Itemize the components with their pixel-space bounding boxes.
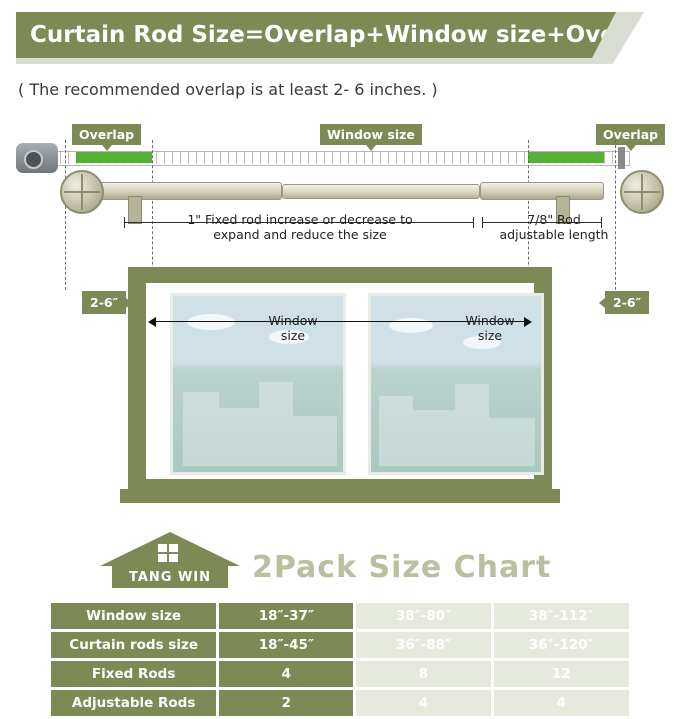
fixed-rod-note: 1" Fixed rod increase or decrease to exp… [150,212,450,242]
callout-overlap-right: 2-6″ [605,291,649,314]
rod-bracket-left-icon [128,196,142,224]
adjustable-rod-note-line1: 7/8" Rod [494,212,614,227]
table-cell: 2 [219,690,353,716]
table-row: Adjustable Rods244 [51,690,629,716]
table-cell: 38″-112″ [494,603,630,629]
guide-line-1 [65,140,66,290]
table-row-header: Curtain rods size [51,632,216,658]
table-row: Curtain rods size18″-45″36″-88″36″-120″ [51,632,629,658]
table-cell: 8 [356,661,490,687]
dimension-cap-adjustable-left [482,217,483,228]
header-subtitle: ( The recommended overlap is at least 2-… [18,80,658,99]
table-cell: 12 [494,661,630,687]
table-cell: 38″-80″ [356,603,490,629]
curtain-rod-right-section [480,182,604,200]
page-title: Curtain Rod Size=Overlap+Window size+Ove… [30,22,667,48]
skyline-shape [219,408,259,466]
table-cell: 36″-120″ [494,632,630,658]
window-size-label-right-line2: size [445,328,535,343]
arrow-right-icon [524,317,532,327]
table-row-header: Window size [51,603,216,629]
curtain-rod-adjustable-section [282,184,480,199]
skyline-shape [489,418,535,466]
size-chart-title: 2Pack Size Chart [252,550,551,585]
adjustable-rod-note: 7/8" Rod adjustable length [494,212,614,242]
curtain-rod-left-section [80,182,282,200]
tape-end-hook-icon [618,147,625,169]
table-row-header: Adjustable Rods [51,690,216,716]
size-chart-table: Window size18″-37″38″-80″38″-112″Curtain… [48,600,632,719]
cloud-icon [187,314,235,330]
rod-finial-right-icon [620,170,664,214]
table-cell: 4 [494,690,630,716]
tape-tick-marks [52,151,628,164]
table-cell: 4 [219,661,353,687]
label-overlap-left: Overlap [72,124,141,145]
skyline-shape [183,392,219,466]
window-size-label-left: Window size [248,313,338,343]
window-size-label-right: Window size [445,313,535,343]
fixed-rod-note-line1: 1" Fixed rod increase or decrease to [150,212,450,227]
rod-finial-left-icon [60,170,104,214]
fixed-rod-note-line2: expand and reduce the size [150,227,450,242]
table-row: Window size18″-37″38″-80″38″-112″ [51,603,629,629]
skyline-shape [293,416,337,466]
skyline-shape [379,396,413,466]
dimension-cap-fixed-right [473,217,474,228]
table-cell: 36″-88″ [356,632,490,658]
label-window-size-top: Window size [320,124,422,145]
table-cell: 4 [356,690,490,716]
skyline-shape [259,382,293,466]
arrow-left-icon [148,317,156,327]
callout-overlap-left: 2-6″ [82,291,126,314]
brand-name: TANG WIN [112,566,228,588]
header-banner: Curtain Rod Size=Overlap+Window size+Ove… [16,12,616,58]
window-width-dimension-line [152,321,528,322]
dimension-cap-fixed-left [124,217,125,228]
adjustable-rod-note-line2: adjustable length [494,227,614,242]
skyline-shape [455,384,489,466]
table-cell: 18″-37″ [219,603,353,629]
window-sill [120,489,560,503]
table-row: Fixed Rods4812 [51,661,629,687]
guide-line-4 [615,140,616,290]
table-row-header: Fixed Rods [51,661,216,687]
tape-measure-case-hole [24,150,43,169]
skyline-shape [413,410,455,466]
window-size-label-left-line2: size [248,328,338,343]
brand-window-mullion-vertical [167,544,169,562]
label-overlap-right: Overlap [596,124,665,145]
table-cell: 18″-45″ [219,632,353,658]
